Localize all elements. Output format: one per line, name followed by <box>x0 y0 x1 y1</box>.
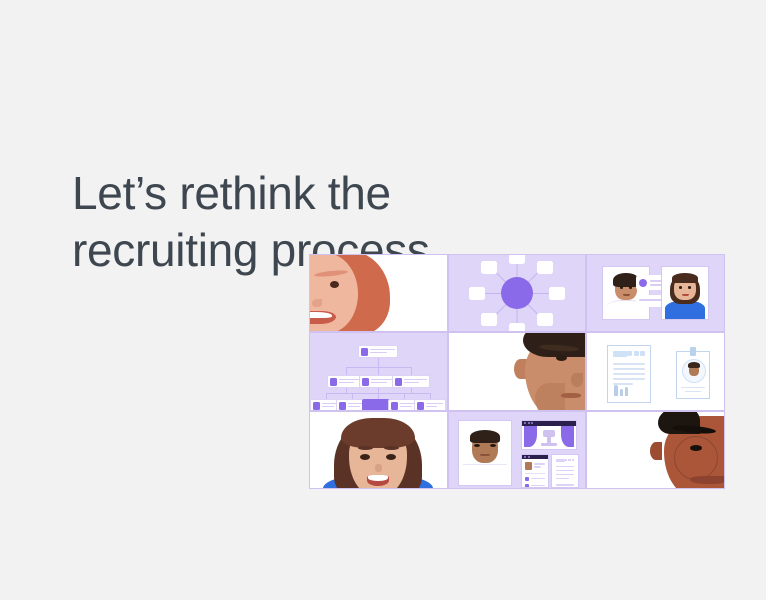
document-marker <box>627 351 632 356</box>
collage-cell-face-dark-hair <box>449 333 586 409</box>
eye-shape <box>679 286 682 289</box>
document-marker <box>640 351 645 356</box>
profile-text-line <box>531 478 545 480</box>
doc-text-line <box>556 484 574 486</box>
eye-shape <box>330 281 339 288</box>
document-text-line <box>613 368 645 370</box>
doc-title-line <box>556 459 565 462</box>
document-text-line <box>613 363 645 365</box>
hair-shape <box>470 430 500 443</box>
node-avatar-icon <box>330 378 337 386</box>
org-connector <box>378 357 379 367</box>
org-connector <box>378 367 379 375</box>
doc-marker <box>565 459 568 462</box>
resume-document <box>607 345 651 403</box>
collage-cell-portrait-woman <box>310 412 447 488</box>
mouth-shape <box>682 294 689 296</box>
hub-node <box>509 323 525 332</box>
badge-photo <box>682 359 706 383</box>
org-node-member <box>414 399 446 409</box>
collage-cell-face-glasses <box>587 412 724 488</box>
teeth-shape <box>368 475 388 481</box>
hub-node <box>549 287 565 300</box>
eye-shape <box>629 286 632 289</box>
collage-cell-interview <box>587 255 724 331</box>
eye-shape <box>386 454 396 460</box>
eyebrow-shape <box>384 446 399 450</box>
badge-text-line <box>685 391 701 393</box>
doc-text-line <box>556 466 574 468</box>
doc-text-line <box>556 478 569 480</box>
divider <box>525 473 545 474</box>
window-dot-icon <box>531 422 533 424</box>
ear-shape <box>650 442 662 460</box>
window-dot-icon <box>528 422 530 424</box>
document-header-block <box>613 351 627 357</box>
node-avatar-icon <box>339 402 346 410</box>
profile-text-line <box>534 466 541 468</box>
id-badge <box>676 351 710 399</box>
node-text-lines <box>404 379 427 385</box>
nose-shape <box>375 464 382 472</box>
document-marker <box>634 351 639 356</box>
node-avatar-icon <box>391 402 398 410</box>
signature-mark <box>614 384 630 396</box>
glasses-icon <box>674 436 718 480</box>
hub-core-circle <box>501 277 533 309</box>
badge-clip <box>690 347 696 356</box>
document-text-line <box>613 373 645 375</box>
profile-text-line <box>534 463 545 465</box>
node-avatar-icon <box>362 378 369 386</box>
hub-node <box>537 261 553 274</box>
fringe-shape <box>672 273 698 283</box>
browser-window-stage <box>521 420 577 450</box>
profile-text-line <box>531 485 545 487</box>
hub-node <box>481 313 497 326</box>
curtain-right <box>561 426 574 447</box>
collage-cell-face-red-hair <box>310 255 447 331</box>
node-avatar-icon <box>361 348 368 356</box>
nose-shape <box>312 299 322 307</box>
window-dot-icon <box>528 456 530 458</box>
collage-cell-org-chart <box>310 333 447 409</box>
portrait-card-right <box>661 266 709 320</box>
browser-window-profile <box>521 454 549 488</box>
doc-marker <box>568 459 571 462</box>
mouth-shape <box>623 294 630 296</box>
eye-shape <box>490 444 496 447</box>
eye-shape <box>690 445 702 451</box>
org-node-root <box>358 345 398 358</box>
podium-top <box>543 430 555 437</box>
org-node-manager <box>392 375 430 388</box>
fringe-shape <box>341 418 415 448</box>
bubble-tail <box>639 289 644 294</box>
browser-window-document <box>551 454 579 488</box>
hub-node <box>469 287 485 300</box>
node-avatar-icon <box>395 378 402 386</box>
hub-node <box>509 255 525 264</box>
doc-text-line <box>556 470 574 472</box>
eye-shape <box>474 444 480 447</box>
window-dot-icon <box>524 456 526 458</box>
list-bullet <box>525 477 529 481</box>
doc-text-line <box>556 474 574 476</box>
mouth-shape <box>690 476 724 484</box>
curtain-left <box>524 426 537 447</box>
recruiting-illustration-collage <box>309 254 725 489</box>
org-connector <box>411 367 412 375</box>
node-text-lines <box>371 379 394 385</box>
node-avatar-icon <box>313 402 320 410</box>
eye-shape <box>688 286 691 289</box>
eye-shape <box>360 454 370 460</box>
mouth-shape <box>367 475 389 486</box>
doc-marker <box>572 459 575 462</box>
avatar-dot-icon <box>639 279 647 287</box>
document-text-line <box>613 378 645 380</box>
collage-cell-network-hub <box>449 255 586 331</box>
candidate-photo-card <box>458 420 512 486</box>
podium-base <box>541 443 557 446</box>
hub-node <box>481 261 497 274</box>
node-text-lines <box>426 403 443 409</box>
stage-scene <box>522 426 576 450</box>
podium-stem <box>547 437 551 443</box>
eyebrow-shape <box>358 446 373 450</box>
node-text-lines <box>370 349 395 355</box>
hub-node <box>537 313 553 326</box>
profile-avatar <box>525 462 532 470</box>
hub-diagram <box>449 255 586 331</box>
node-avatar-icon <box>417 402 424 410</box>
node-text-lines <box>339 379 362 385</box>
collage-cell-profile-screens <box>449 412 586 488</box>
window-dot-icon <box>524 422 526 424</box>
mouth-shape <box>480 454 490 457</box>
shirt-shape <box>463 464 507 485</box>
teeth-shape <box>310 312 332 318</box>
org-connector <box>346 367 347 375</box>
eye-shape <box>620 286 623 289</box>
badge-text-line <box>681 387 705 389</box>
collage-cell-resume-badge <box>587 333 724 409</box>
list-bullet <box>525 484 529 488</box>
